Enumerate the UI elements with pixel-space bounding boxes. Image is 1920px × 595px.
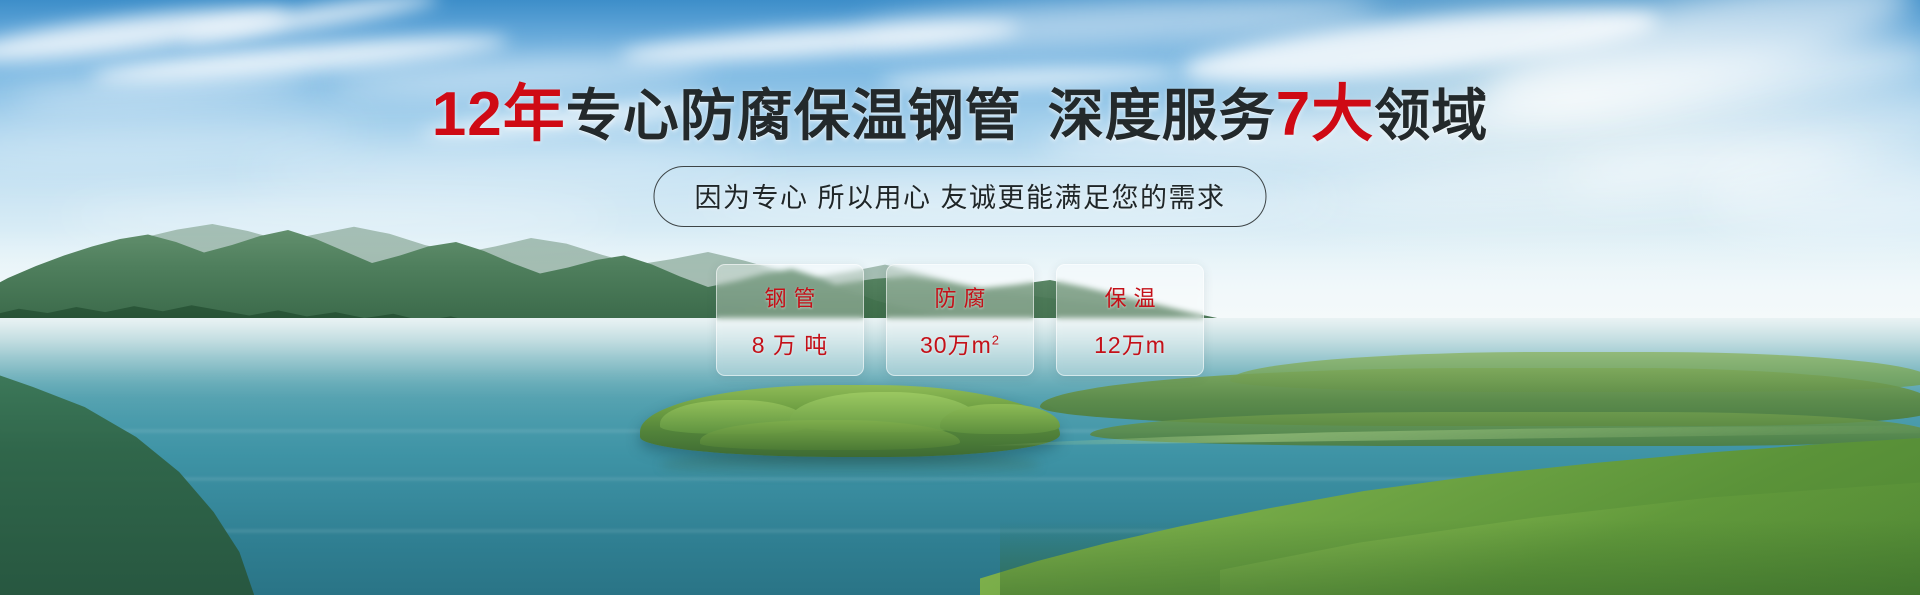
banner-content: 12年专心防腐保温钢管深度服务7大领域 因为专心 所以用心 友诚更能满足您的需求… [0, 0, 1920, 595]
stat-card-label: 保温 [1097, 281, 1162, 313]
stat-value-superscript: 2 [992, 332, 1000, 347]
headline-segment-years: 12年 [432, 80, 566, 149]
headline-segment-seven: 7大 [1276, 80, 1374, 149]
stat-cards: 钢管 8 万 吨 防腐 30万m2 保温 12万m [716, 264, 1204, 376]
stat-card-steel-pipe[interactable]: 钢管 8 万 吨 [716, 264, 864, 376]
stat-card-label: 防腐 [927, 281, 992, 313]
stat-card-label: 钢管 [757, 281, 822, 313]
stat-card-insulation[interactable]: 保温 12万m [1056, 264, 1204, 376]
headline-segment-fields: 领域 [1374, 84, 1488, 147]
stat-card-value: 8 万 吨 [752, 326, 829, 360]
stat-value-text: 30万m [920, 332, 992, 358]
stat-value-text: 8 万 吨 [752, 332, 829, 358]
stat-card-value: 12万m [1094, 326, 1166, 360]
headline-segment-specialty: 专心防腐保温钢管 [566, 84, 1022, 147]
stat-card-value: 30万m2 [920, 326, 1000, 360]
stat-card-anticorrosion[interactable]: 防腐 30万m2 [886, 264, 1034, 376]
stat-value-text: 12万m [1094, 332, 1166, 358]
headline-segment-service: 深度服务 [1048, 84, 1276, 147]
hero-banner: 12年专心防腐保温钢管深度服务7大领域 因为专心 所以用心 友诚更能满足您的需求… [0, 0, 1920, 595]
headline: 12年专心防腐保温钢管深度服务7大领域 [0, 84, 1920, 146]
subtitle-pill: 因为专心 所以用心 友诚更能满足您的需求 [653, 166, 1266, 227]
